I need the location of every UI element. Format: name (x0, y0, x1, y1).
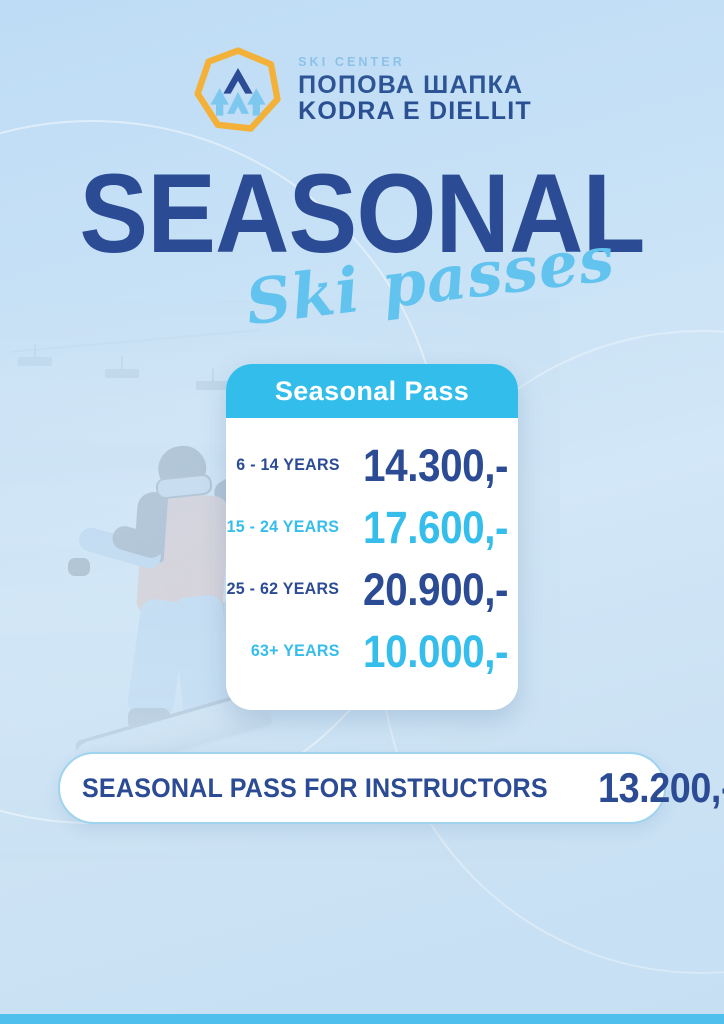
instructor-pass-label: SEASONAL PASS FOR INSTRUCTORS (82, 773, 548, 804)
bottom-accent-strip (0, 1014, 724, 1024)
price-age-label: 63+ YEARS (251, 641, 340, 661)
price-row: 15 - 24 YEARS 17.600,- (226, 496, 518, 558)
price-age-label: 25 - 62 YEARS (227, 579, 340, 599)
brand-name-sq: KODRA E DIELLIT (298, 98, 532, 124)
poster-root: SKI CENTER ПОПОВА ШАПКА KODRA E DIELLIT … (0, 0, 724, 1024)
instructor-pass-bar: SEASONAL PASS FOR INSTRUCTORS 13.200,- (58, 752, 666, 824)
price-value: 14.300,- (363, 443, 508, 488)
price-row: 63+ YEARS 10.000,- (226, 620, 518, 682)
card-header: Seasonal Pass (226, 364, 518, 418)
price-age-label: 6 - 14 YEARS (236, 455, 339, 475)
instructor-pass-price: 13.200,- (598, 767, 724, 809)
price-value: 20.900,- (363, 567, 508, 612)
brand-name-mk: ПОПОВА ШАПКА (298, 72, 532, 98)
hexagon-mountain-logo-icon (192, 46, 284, 134)
price-age-label: 15 - 24 YEARS (227, 517, 340, 537)
price-row: 6 - 14 YEARS 14.300,- (226, 434, 518, 496)
price-row: 25 - 62 YEARS 20.900,- (226, 558, 518, 620)
card-header-title: Seasonal Pass (275, 376, 469, 407)
brand-logo: SKI CENTER ПОПОВА ШАПКА KODRA E DIELLIT (0, 46, 724, 134)
card-price-list: 6 - 14 YEARS 14.300,- 15 - 24 YEARS 17.6… (226, 418, 518, 710)
price-value: 10.000,- (363, 629, 508, 674)
seasonal-pass-card: Seasonal Pass 6 - 14 YEARS 14.300,- 15 -… (226, 364, 518, 710)
page-title: SEASONAL Ski passes (0, 158, 724, 270)
brand-kicker: SKI CENTER (298, 56, 532, 69)
price-value: 17.600,- (363, 505, 508, 550)
brand-logo-text: SKI CENTER ПОПОВА ШАПКА KODRA E DIELLIT (298, 56, 532, 125)
